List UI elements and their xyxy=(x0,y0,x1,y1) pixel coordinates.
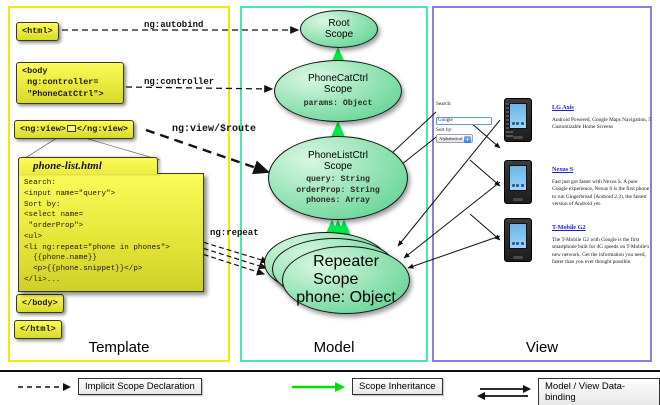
scope-repeater-stack: Repeater Scope phone: Object xyxy=(264,232,416,320)
phone-list-item[interactable]: LG Axis Android Powered, Google Maps Nav… xyxy=(504,96,652,132)
legend-item-implicit: Implicit Scope Declaration xyxy=(16,378,202,395)
phone-screen-icon xyxy=(509,103,527,129)
scope-phonecatctrl-title: PhoneCatCtrl Scope xyxy=(308,73,368,95)
sort-select[interactable]: Alphabetical ▾ xyxy=(436,134,473,143)
phone-home-button-icon xyxy=(513,136,523,139)
phone-name-link[interactable]: Nexus S xyxy=(552,166,573,173)
tag-ngview-open: <ng:view> xyxy=(20,124,66,134)
scope-root: Root Scope xyxy=(300,10,378,48)
scope-phonelistctrl-title: PhoneListCtrl Scope xyxy=(308,150,368,172)
phone-text-block: Nexus S Fast just got faster with Nexus … xyxy=(552,158,652,208)
phone-list-item[interactable]: T-Mobile G2 The T-Mobile G2 with Google … xyxy=(504,216,652,266)
tag-html-open: <html> xyxy=(16,22,59,41)
callout-title: phone-list.html xyxy=(18,157,158,174)
phone-snippet: Android Powered, Google Maps Navigation,… xyxy=(552,117,652,132)
solid-arrow-icon xyxy=(290,379,346,395)
template-callout: phone-list.html Search: <input name="que… xyxy=(18,157,204,292)
callout-code: Search: <input name="query"> Sort by: <s… xyxy=(18,173,204,292)
search-input[interactable] xyxy=(436,117,492,125)
scope-phonecatctrl-props: params: Object xyxy=(304,99,373,109)
sort-select-value: Alphabetical xyxy=(439,136,462,141)
scope-phonelistctrl: PhoneListCtrl Scope query: String orderP… xyxy=(268,136,408,220)
double-arrow-icon xyxy=(476,384,532,400)
tag-body-close: </body> xyxy=(16,294,64,313)
legend-label-databinding: Model / View Data-binding xyxy=(538,378,660,405)
scope-root-title: Root Scope xyxy=(325,18,353,40)
legend-item-inheritance: Scope Inheritance xyxy=(290,378,443,395)
label-ng-autobind: ng:autobind xyxy=(144,20,203,30)
phone-text-block: T-Mobile G2 The T-Mobile G2 with Google … xyxy=(552,216,652,266)
sort-label: Sort by: xyxy=(436,127,496,134)
scope-phonecatctrl: PhoneCatCtrl Scope params: Object xyxy=(274,60,402,122)
panel-view-label: View xyxy=(434,339,650,356)
tag-html-close: </html> xyxy=(14,320,62,339)
phone-screen-dots xyxy=(511,182,525,188)
scope-repeater-title: Repeater Scope xyxy=(313,253,379,289)
phone-screen-dots xyxy=(511,240,525,246)
ngview-placeholder-icon xyxy=(67,125,76,132)
phone-thumbnail xyxy=(504,98,532,142)
phone-list-item[interactable]: Nexus S Fast just got faster with Nexus … xyxy=(504,158,652,208)
scope-phonelistctrl-props: query: String orderProp: String phones: … xyxy=(296,175,380,206)
dashed-arrow-icon xyxy=(16,379,72,395)
tag-ngview: <ng:view></ng:view> xyxy=(14,120,134,139)
phone-name-link[interactable]: T-Mobile G2 xyxy=(552,224,586,231)
tag-body-open: <body ng:controller= "PhoneCatCtrl"> xyxy=(16,62,124,104)
panel-model-label: Model xyxy=(242,339,426,356)
phone-thumbnail xyxy=(504,160,532,204)
legend-label-implicit: Implicit Scope Declaration xyxy=(78,378,202,395)
label-ng-repeat: ng:repeat xyxy=(210,228,259,238)
phone-screen-dots xyxy=(511,120,525,126)
view-search-form: Search: Sort by: Alphabetical ▾ xyxy=(436,101,496,143)
phone-home-button-icon xyxy=(513,256,523,259)
legend-label-inheritance: Scope Inheritance xyxy=(352,378,443,395)
phone-screen-icon xyxy=(509,165,527,191)
diagram-root: Template Model View xyxy=(0,0,660,405)
search-label: Search: xyxy=(436,101,496,108)
label-ng-controller: ng:controller xyxy=(144,77,214,87)
panel-template-label: Template xyxy=(10,339,228,356)
phone-name-link[interactable]: LG Axis xyxy=(552,104,574,111)
legend: Implicit Scope Declaration Scope Inherit… xyxy=(0,370,660,405)
legend-item-databinding: Model / View Data-binding xyxy=(476,378,660,405)
tag-ngview-close: </ng:view> xyxy=(77,124,128,134)
label-ng-view-route: ng:view/$route xyxy=(172,124,256,135)
phone-text-block: LG Axis Android Powered, Google Maps Nav… xyxy=(552,96,652,132)
phone-screen-icon xyxy=(509,223,527,249)
phone-home-button-icon xyxy=(513,198,523,201)
scope-repeater-front: Repeater Scope phone: Object xyxy=(282,246,410,314)
chevron-down-icon: ▾ xyxy=(464,136,471,143)
phone-snippet: The T-Mobile G2 with Google is the first… xyxy=(552,237,652,266)
phone-snippet: Fast just got faster with Nexus S. A pur… xyxy=(552,179,652,208)
scope-repeater-props: phone: Object xyxy=(296,289,396,307)
phone-thumbnail xyxy=(504,218,532,262)
